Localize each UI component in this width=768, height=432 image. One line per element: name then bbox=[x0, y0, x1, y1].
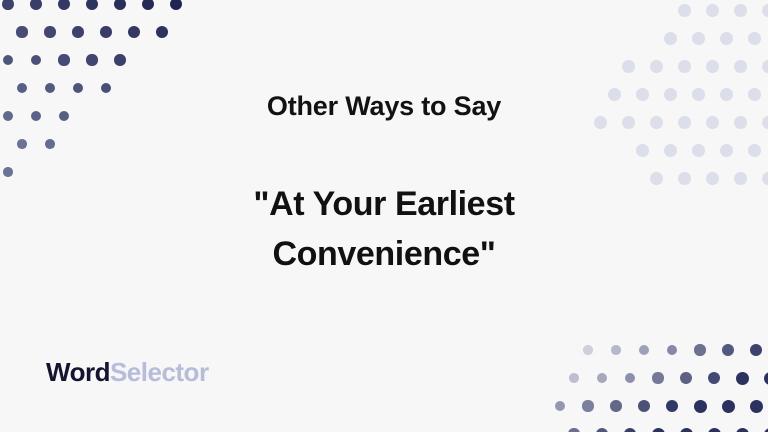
eyebrow-text: Other Ways to Say bbox=[267, 90, 501, 122]
brand-logo[interactable]: WordSelector bbox=[46, 357, 209, 388]
header-card: Other Ways to Say "At Your Earliest Conv… bbox=[0, 0, 768, 432]
page-title: "At Your Earliest Convenience" bbox=[174, 180, 594, 279]
logo-word-secondary: Selector bbox=[110, 357, 209, 387]
logo-word-primary: Word bbox=[46, 357, 110, 387]
